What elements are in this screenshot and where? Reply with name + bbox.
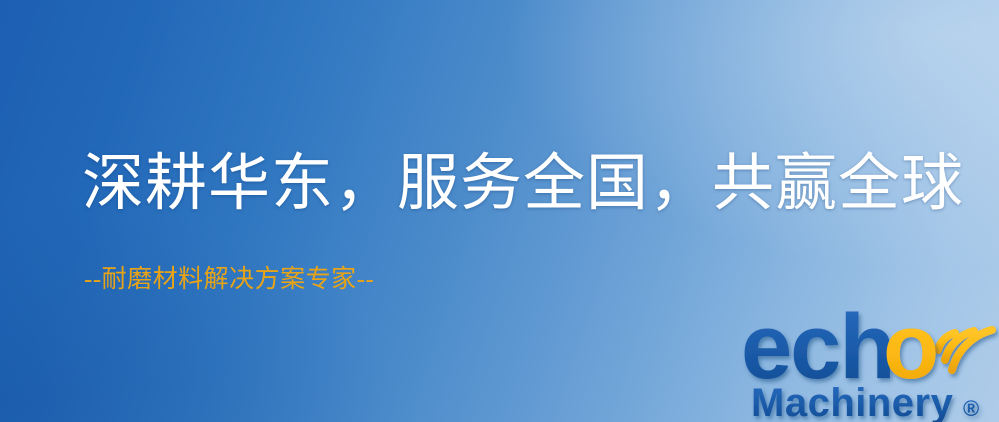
- banner-subtitle: --耐磨材料解决方案专家--: [84, 266, 374, 294]
- logo-artwork: ech o Machinery ®: [735, 292, 999, 422]
- echo-machinery-logo[interactable]: ech o Machinery ®: [735, 292, 999, 422]
- banner-headline: 深耕华东，服务全国，共赢全球: [82, 152, 964, 217]
- logo-text-machinery: Machinery: [751, 381, 954, 422]
- registered-trademark-icon: ®: [963, 396, 979, 421]
- signal-waves-icon: [938, 330, 992, 370]
- hero-banner: 深耕华东，服务全国，共赢全球 --耐磨材料解决方案专家--: [0, 0, 999, 422]
